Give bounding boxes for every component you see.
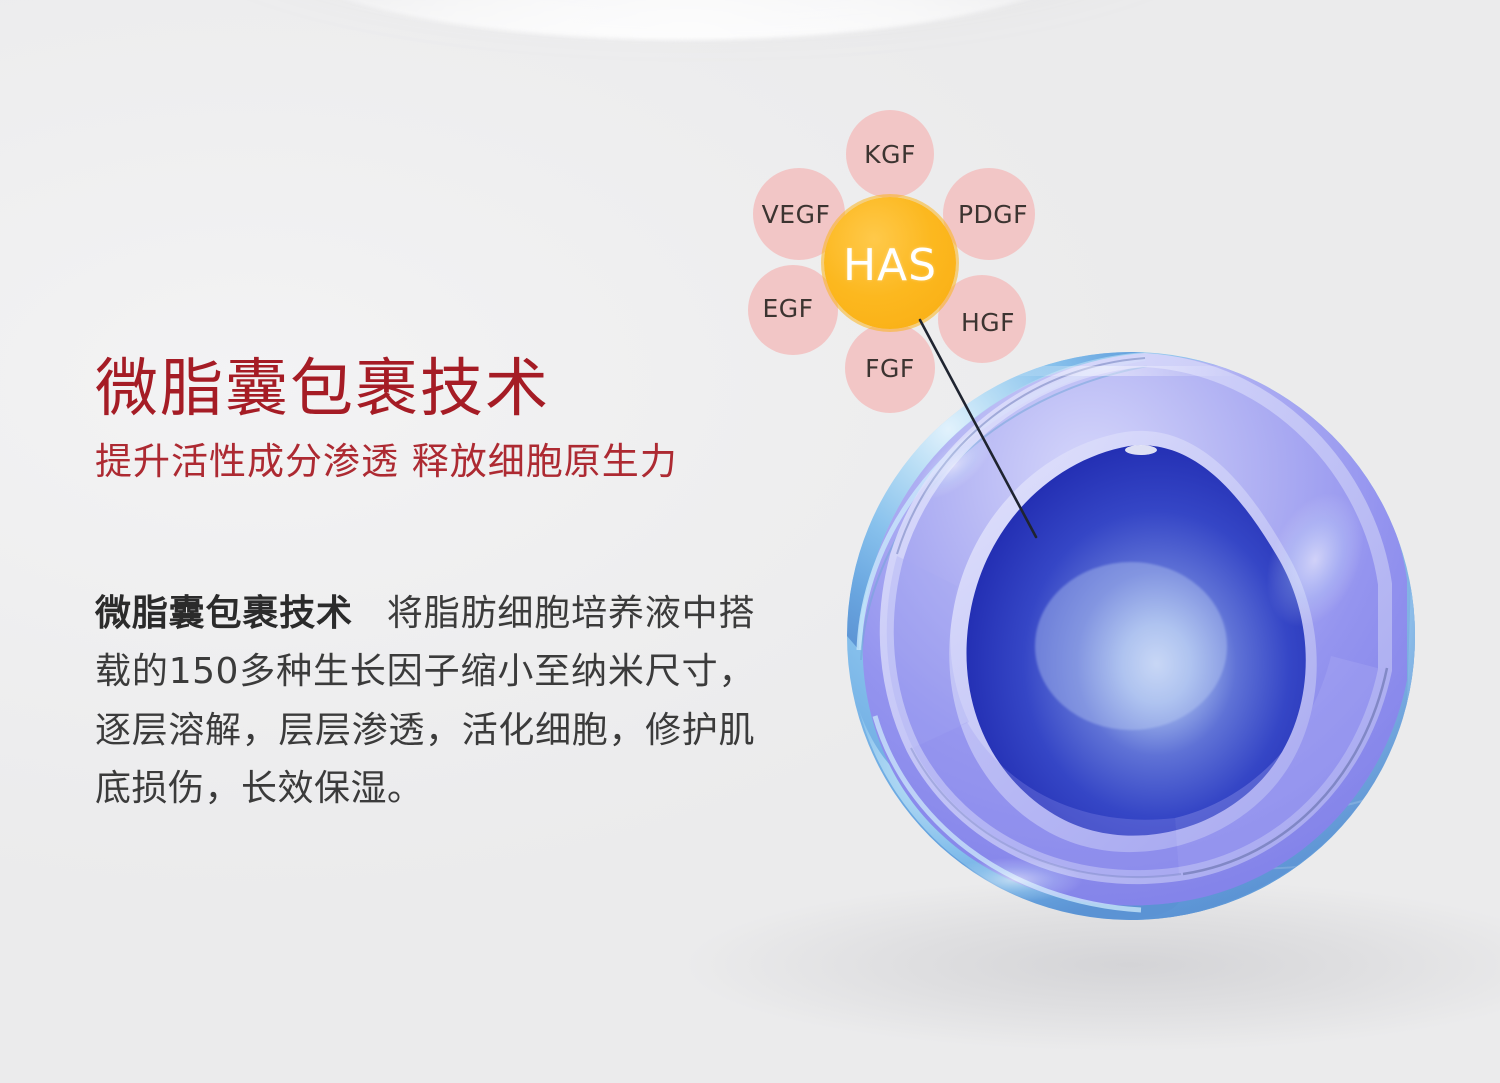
- petal-egf[interactable]: EGF: [748, 265, 838, 355]
- growth-factor-diagram: KGF VEGF PDGF EGF HGF FGF HAS: [740, 105, 1060, 405]
- page-subtitle: 提升活性成分渗透 释放细胞原生力: [95, 440, 755, 484]
- petal-fgf-label: FGF: [865, 354, 915, 383]
- poster-canvas: 微脂囊包裹技术 提升活性成分渗透 释放细胞原生力 微脂囊包裹技术将脂肪细胞培养液…: [0, 0, 1500, 1083]
- body-paragraph: 微脂囊包裹技术将脂肪细胞培养液中搭载的150多种生长因子缩小至纳米尺寸，逐层溶解…: [95, 585, 755, 818]
- body-lead-term: 微脂囊包裹技术: [95, 593, 353, 634]
- petal-kgf-label: KGF: [864, 140, 916, 169]
- petal-pdgf-label: PDGF: [958, 200, 1028, 229]
- sphere-cutaway-icon: [845, 350, 1417, 922]
- headline-block: 微脂囊包裹技术 提升活性成分渗透 释放细胞原生力: [95, 352, 755, 485]
- page-title: 微脂囊包裹技术: [95, 352, 755, 426]
- has-center-circle[interactable]: HAS: [824, 197, 956, 329]
- petal-egf-label: EGF: [762, 294, 813, 323]
- body-copy-block: 微脂囊包裹技术将脂肪细胞培养液中搭载的150多种生长因子缩小至纳米尺寸，逐层溶解…: [95, 585, 755, 818]
- petal-hgf-label: HGF: [961, 308, 1015, 337]
- petal-kgf[interactable]: KGF: [846, 110, 934, 198]
- has-center-label: HAS: [843, 240, 937, 291]
- petal-pdgf[interactable]: PDGF: [943, 168, 1035, 260]
- petal-vegf-label: VEGF: [762, 200, 831, 229]
- petal-fgf[interactable]: FGF: [845, 323, 935, 413]
- petal-hgf[interactable]: HGF: [938, 275, 1026, 363]
